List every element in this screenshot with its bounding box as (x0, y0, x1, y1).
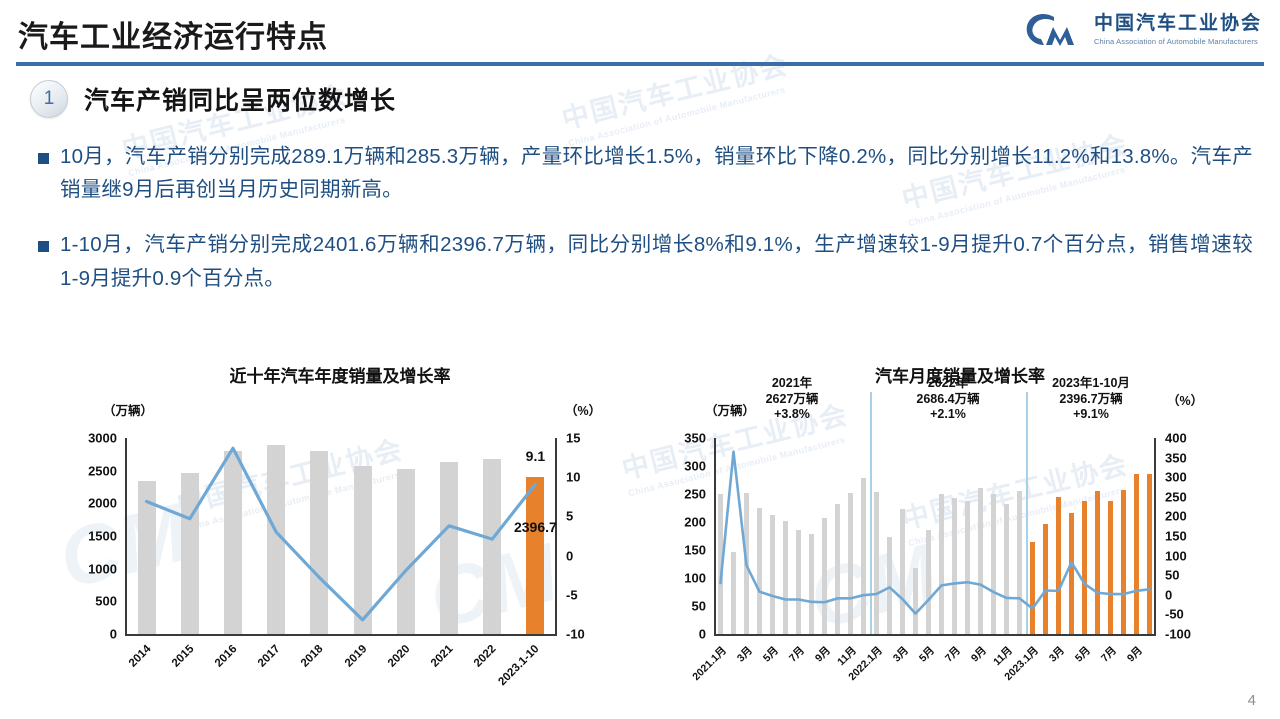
chart-y-tick-label: 0 (646, 627, 706, 642)
chart-growth-line (125, 438, 557, 634)
brand-logo-text: 中国汽车工业协会 China Association of Automobile… (1094, 14, 1262, 47)
chart-y2-tick-label: 350 (1165, 450, 1225, 465)
caam-logo-icon (1024, 10, 1086, 50)
chart-period-annotation: 2021年 2627万辆 +3.8% (722, 376, 862, 423)
chart-y2-tick-label: -10 (566, 627, 626, 642)
chart-period-annotation: 2022年 2686.4万辆 +2.1% (878, 376, 1018, 423)
chart-y2-axis-unit: （%） (1167, 390, 1203, 409)
slide: CM CM CM 中国汽车工业协会 China Association of A… (0, 0, 1280, 719)
chart-y-tick-label: 100 (646, 571, 706, 586)
bullet-list: 10月，汽车产销分别完成289.1万辆和285.3万辆，产量环比增长1.5%，销… (38, 140, 1253, 317)
brand-name-en: China Association of Automobile Manufact… (1094, 37, 1262, 46)
bullet-item: 10月，汽车产销分别完成289.1万辆和285.3万辆，产量环比增长1.5%，销… (38, 140, 1253, 206)
chart-y2-tick-label: -50 (1165, 607, 1225, 622)
chart-y2-tick-label: 250 (1165, 489, 1225, 504)
section-title: 汽车产销同比呈两位数增长 (84, 81, 396, 117)
chart-y2-tick-label: 10 (566, 470, 626, 485)
page-title: 汽车工业经济运行特点 (18, 12, 328, 56)
chart-y-tick-label: 300 (646, 459, 706, 474)
chart-y-tick-label: 1500 (57, 529, 117, 544)
chart-x-axis-line (125, 634, 557, 636)
chart-y2-tick-label: 150 (1165, 529, 1225, 544)
chart-y-tick-label: 2500 (57, 463, 117, 478)
chart-y2-tick-label: 300 (1165, 470, 1225, 485)
section-number-badge: 1 (30, 80, 68, 118)
chart-y-tick-label: 3000 (57, 431, 117, 446)
chart-monthly-sales: 汽车月度销量及增长率 （万辆） （%） 05010015020025030035… (650, 362, 1270, 707)
bullet-square-icon (38, 241, 49, 252)
chart-y-tick-label: 200 (646, 515, 706, 530)
chart-y-tick-label: 0 (57, 627, 117, 642)
chart-y2-tick-label: -5 (566, 587, 626, 602)
chart-y-tick-label: 350 (646, 431, 706, 446)
chart-y-tick-label: 1000 (57, 561, 117, 576)
chart-y2-axis-unit: （%） (565, 400, 601, 419)
chart-y-tick-label: 2000 (57, 496, 117, 511)
page-number: 4 (1248, 692, 1256, 709)
watermark-en: China Association of Automobile Manufact… (567, 82, 795, 148)
bullet-item: 1-10月，汽车产销分别完成2401.6万辆和2396.7万辆，同比分别增长8%… (38, 228, 1253, 294)
chart-y2-tick-label: 0 (1165, 587, 1225, 602)
chart-y-tick-label: 250 (646, 487, 706, 502)
chart-plot-area: 050010001500200025003000-10-505101520142… (125, 438, 557, 634)
brand-logo: 中国汽车工业协会 China Association of Automobile… (1024, 10, 1262, 50)
chart-data-label: 2396.7 (490, 519, 580, 535)
watermark-cn: 中国汽车工业协会 (557, 43, 792, 137)
chart-y2-tick-label: 200 (1165, 509, 1225, 524)
chart-y-tick-label: 150 (646, 543, 706, 558)
chart-y2-tick-label: 0 (566, 548, 626, 563)
header-divider (16, 62, 1264, 66)
chart-growth-line (714, 438, 1156, 634)
chart-y-tick-label: 50 (646, 599, 706, 614)
chart-data-label: 9.1 (490, 448, 580, 464)
bullet-text: 10月，汽车产销分别完成289.1万辆和285.3万辆，产量环比增长1.5%，销… (60, 140, 1253, 206)
chart-y-tick-label: 500 (57, 594, 117, 609)
brand-name-cn: 中国汽车工业协会 (1094, 14, 1262, 35)
chart-y2-tick-label: 15 (566, 431, 626, 446)
bullet-text: 1-10月，汽车产销分别完成2401.6万辆和2396.7万辆，同比分别增长8%… (60, 228, 1253, 294)
chart-y2-tick-label: 100 (1165, 548, 1225, 563)
chart-y2-tick-label: -100 (1165, 627, 1225, 642)
chart-y2-tick-label: 400 (1165, 431, 1225, 446)
section-heading: 1 汽车产销同比呈两位数增长 (30, 80, 396, 118)
chart-annual-sales: 近十年汽车年度销量及增长率 （万辆） （%） 05001000150020002… (40, 362, 640, 707)
chart-y-axis-unit: （万辆） (103, 400, 153, 419)
chart-plot-area: 050100150200250300350-100-50050100150200… (714, 438, 1156, 634)
bullet-square-icon (38, 153, 49, 164)
chart-period-annotation: 2023年1-10月 2396.7万辆 +9.1% (1021, 376, 1161, 423)
chart-title: 近十年汽车年度销量及增长率 (40, 362, 640, 387)
watermark-text: 中国汽车工业协会 China Association of Automobile… (557, 43, 794, 149)
chart-y2-tick-label: 50 (1165, 568, 1225, 583)
chart-x-axis-line (714, 634, 1156, 636)
